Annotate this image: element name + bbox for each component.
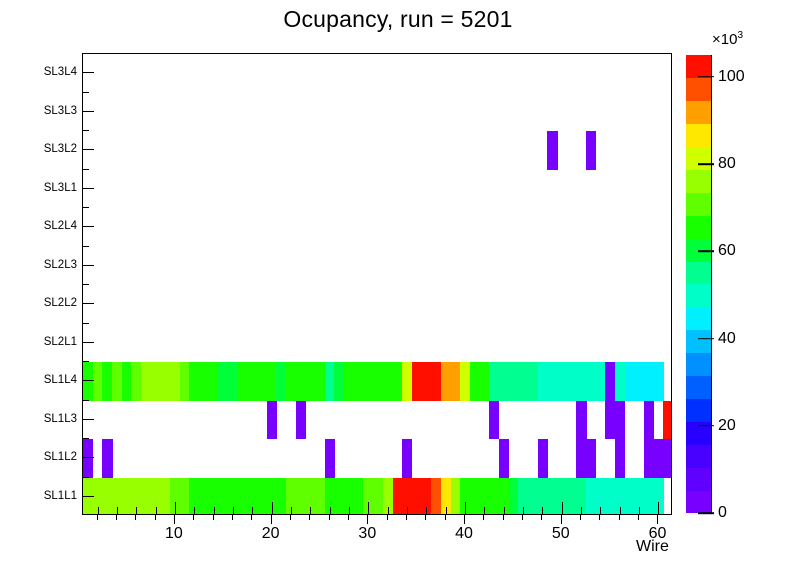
x-axis-ticks: 102030405060 [82,515,672,555]
x-axis-minor-tick [116,515,117,520]
colorbar-tick [698,512,714,514]
y-axis-minor-tick [82,246,89,247]
colorbar-exponent: ×103 [712,30,743,48]
colorbar-tick-label: 60 [718,242,736,260]
colorbar-band [686,353,712,376]
y-axis-tick [82,226,94,227]
x-axis-inner-tick [98,507,99,514]
heatmap-cell [576,401,586,440]
heatmap-cell [654,362,664,401]
colorbar-band [686,192,712,215]
colorbar-band [686,101,712,124]
x-axis-minor-tick [541,515,542,520]
y-axis-label-sl3l4: SL3L4 [17,66,77,78]
heatmap-cell [615,401,625,440]
colorbar-band [686,490,712,513]
x-axis-minor-tick [155,515,156,520]
colorbar-band [686,55,712,78]
y-axis-label-sl3l1: SL3L1 [17,182,77,194]
colorbar-tick [698,425,714,427]
x-axis-inner-tick [291,507,292,514]
x-axis-tick-label: 30 [358,525,376,543]
x-axis-inner-tick [310,507,311,514]
colorbar-exponent-text: ×10 [712,31,737,48]
x-axis-major-tick [271,515,272,524]
heatmap-cell [663,439,672,478]
x-axis-minor-tick [522,515,523,520]
x-axis-inner-tick [639,507,640,514]
x-axis-inner-tick [600,507,601,514]
colorbar-tick-label: 0 [718,504,727,522]
x-axis-inner-tick [446,507,447,514]
x-axis-inner-tick [194,507,195,514]
x-axis-inner-tick [117,507,118,514]
y-axis-label-sl2l4: SL2L4 [17,220,77,232]
y-axis-tick [82,149,94,150]
x-axis-inner-tick [620,507,621,514]
heatmap-cell [325,439,335,478]
y-axis-tick [82,72,94,73]
y-axis-minor-tick [82,207,89,208]
colorbar-band [686,124,712,147]
y-axis-label-sl3l2: SL3L2 [17,143,77,155]
x-axis-inner-tick [407,507,408,514]
colorbar-exponent-sup: 3 [737,30,743,41]
colorbar-band [686,261,712,284]
x-axis-minor-tick [580,515,581,520]
page-title: Ocupancy, run = 5201 [0,6,796,33]
colorbar-band [686,78,712,101]
heatmap-cell [499,439,509,478]
colorbar-band [686,215,712,238]
x-axis-title: Wire [636,538,669,556]
plot-frame[interactable] [82,53,672,515]
x-axis-tick-label: 10 [165,525,183,543]
x-axis-inner-tick [136,507,137,514]
y-axis-minor-tick [82,477,89,478]
y-axis-tick [82,303,94,304]
y-axis-minor-tick [82,169,89,170]
x-axis-minor-tick [599,515,600,520]
x-axis-inner-tick [465,502,466,514]
x-axis-minor-tick [503,515,504,520]
heatmap-cell [663,401,672,440]
x-axis-inner-tick [388,507,389,514]
y-axis-tick [82,265,94,266]
colorbar-tick [698,250,714,252]
y-axis-label-sl1l1: SL1L1 [17,490,77,502]
x-axis-minor-tick [329,515,330,520]
x-axis-minor-tick [483,515,484,520]
heatmap-cell [547,131,557,170]
heatmap-plot-area[interactable] [83,54,671,514]
y-axis-tick [82,419,94,420]
x-axis-minor-tick [135,515,136,520]
x-axis-inner-tick [658,502,659,514]
x-axis-minor-tick [97,515,98,520]
y-axis-minor-tick [82,323,89,324]
x-axis-inner-tick [426,507,427,514]
y-axis-tick [82,496,94,497]
colorbar[interactable] [686,55,712,513]
heatmap-cell [538,439,548,478]
colorbar-band [686,399,712,422]
x-axis-major-tick [464,515,465,524]
heatmap-cell [586,439,596,478]
colorbar-band [686,307,712,330]
colorbar-band [686,284,712,307]
x-axis-minor-tick [348,515,349,520]
x-axis-major-tick [657,515,658,524]
x-axis-inner-tick [214,507,215,514]
heatmap-cell [489,401,499,440]
colorbar-band [686,170,712,193]
heatmap-cell [83,439,93,478]
heatmap-cell [296,401,306,440]
x-axis-inner-tick [233,507,234,514]
colorbar-tick-label: 20 [718,417,736,435]
x-axis-minor-tick [309,515,310,520]
y-axis-tick [82,342,94,343]
colorbar-tick-label: 100 [718,68,745,86]
heatmap-cell [402,439,412,478]
y-axis-minor-tick [82,130,89,131]
x-axis-inner-tick [504,507,505,514]
x-axis-inner-tick [484,507,485,514]
x-axis-minor-tick [425,515,426,520]
x-axis-minor-tick [387,515,388,520]
y-axis-labels: SL1L1SL1L2SL1L3SL1L4SL2L1SL2L2SL2L3SL2L4… [12,53,77,515]
colorbar-tick [698,338,714,340]
x-axis-inner-tick [581,507,582,514]
x-axis-minor-tick [445,515,446,520]
x-axis-tick-label: 40 [455,525,473,543]
colorbar-tick [698,163,714,165]
y-axis-minor-tick [82,361,89,362]
x-axis-inner-tick [156,507,157,514]
heatmap-cell [615,439,625,478]
x-axis-major-tick [174,515,175,524]
y-axis-minor-tick [82,438,89,439]
y-axis-tick [82,457,94,458]
colorbar-band [686,376,712,399]
x-axis-inner-tick [523,507,524,514]
root-canvas: Ocupancy, run = 5201 SL1L1SL1L2SL1L3SL1L… [0,0,796,572]
y-axis-label-sl1l4: SL1L4 [17,374,77,386]
x-axis-minor-tick [193,515,194,520]
x-axis-major-tick [561,515,562,524]
colorbar-tick-label: 40 [718,330,736,348]
heatmap-cell [586,131,596,170]
colorbar-band [686,444,712,467]
x-axis-inner-tick [330,507,331,514]
x-axis-minor-tick [213,515,214,520]
x-axis-tick-label: 50 [552,525,570,543]
colorbar-tick-label: 80 [718,155,736,173]
x-axis-inner-tick [272,502,273,514]
heatmap-cell [267,401,277,440]
heatmap-cell [102,439,112,478]
x-axis-minor-tick [290,515,291,520]
x-axis-inner-tick [175,502,176,514]
heatmap-cell [644,401,654,440]
x-axis-minor-tick [232,515,233,520]
colorbar-band [686,467,712,490]
y-axis-tick [82,111,94,112]
x-axis-inner-tick [252,507,253,514]
y-axis-tick [82,380,94,381]
x-axis-minor-tick [251,515,252,520]
y-axis-label-sl1l2: SL1L2 [17,451,77,463]
y-axis-minor-tick [82,400,89,401]
y-axis-minor-tick [82,284,89,285]
x-axis-inner-tick [368,502,369,514]
x-axis-tick-label: 20 [262,525,280,543]
x-axis-major-tick [367,515,368,524]
y-axis-label-sl1l3: SL1L3 [17,413,77,425]
y-axis-minor-tick [82,92,89,93]
colorbar-band [686,147,712,170]
x-axis-inner-tick [562,502,563,514]
x-axis-minor-tick [638,515,639,520]
y-axis-label-sl2l2: SL2L2 [17,297,77,309]
colorbar-tick [698,76,714,78]
x-axis-inner-tick [542,507,543,514]
y-axis-label-sl3l3: SL3L3 [17,105,77,117]
x-axis-minor-tick [406,515,407,520]
y-axis-label-sl2l3: SL2L3 [17,259,77,271]
colorbar-band [686,330,712,353]
y-axis-tick [82,188,94,189]
x-axis-minor-tick [619,515,620,520]
x-axis-inner-tick [349,507,350,514]
y-axis-label-sl2l1: SL2L1 [17,336,77,348]
